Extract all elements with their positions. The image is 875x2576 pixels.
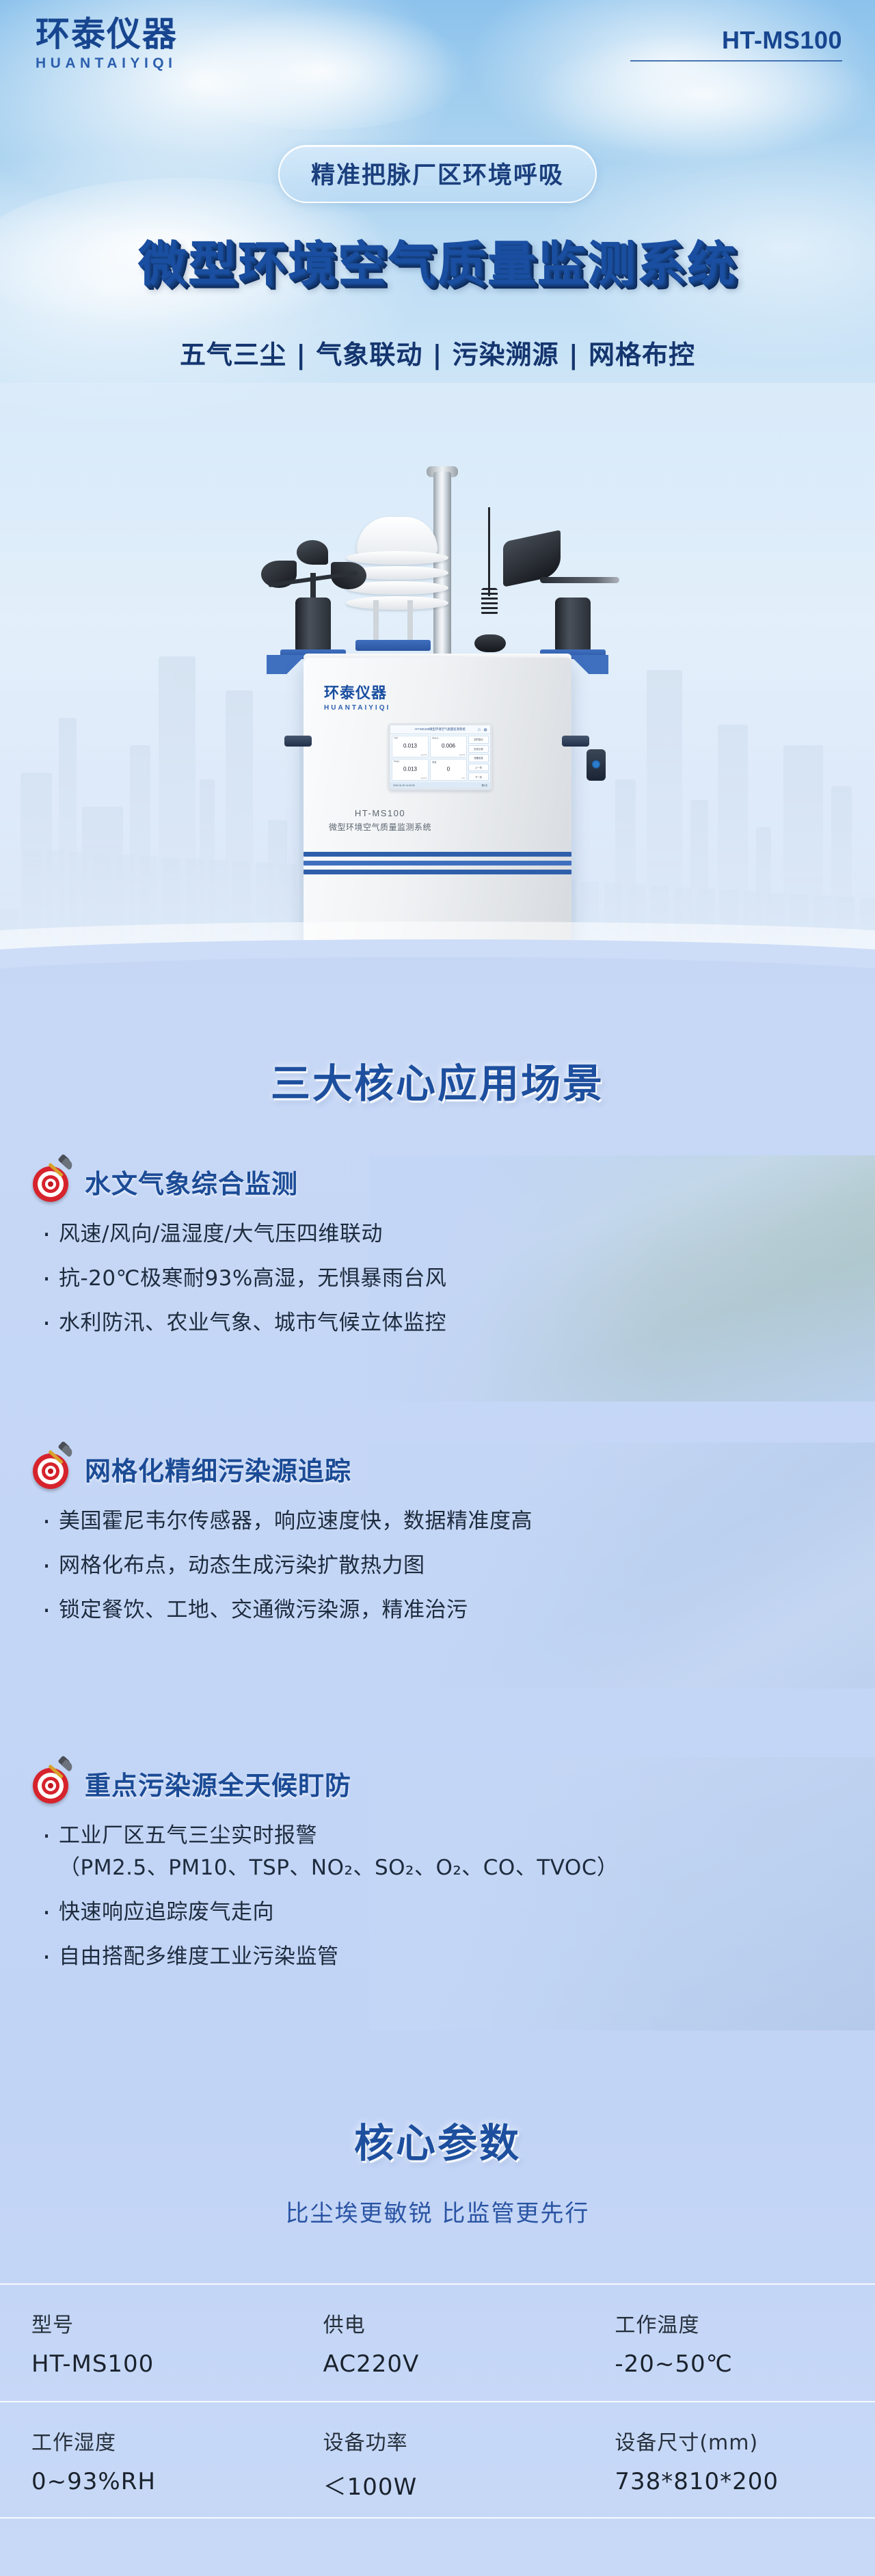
reading-value: 0.013 [392, 743, 428, 749]
reading-label: PM10 [394, 760, 399, 763]
list-item: 工业厂区五气三尘实时报警 （PM2.5、PM10、TSP、NO₂、SO₂、O₂、… [38, 1820, 618, 1884]
screen-title-bar: HT-MS100微型环境空气质量监测系统 ⌂ ✲ [390, 725, 490, 734]
cabinet-stripes [304, 852, 571, 875]
spec-value: HT-MS100 [31, 2350, 292, 2378]
reading-cell: TSP 0.013 ug/m3 [392, 736, 429, 757]
cabinet-label-desc: 微型环境空气质量监测系统 [246, 821, 514, 833]
list-item-text: 工业厂区五气三尘实时报警 [59, 1823, 317, 1848]
scene-2-title: 网格化精细污染源追踪 [85, 1450, 351, 1488]
dart-target-icon [31, 1448, 72, 1489]
anemometer-body [295, 598, 331, 654]
screen-page-indicator: 第1页 [481, 783, 487, 787]
gear-icon[interactable]: ✲ [483, 727, 487, 733]
product-device-image: 环泰仪器 HUANTAIYIQI HT-MS100微型环境空气质量监测系统 ⌂ … [246, 472, 629, 971]
spec-cell: 设备尺寸(mm) 738*810*200 [583, 2402, 875, 2517]
anemometer-cup [297, 540, 328, 565]
spec-key: 工作温度 [615, 2308, 875, 2338]
spec-value: 738*810*200 [615, 2468, 875, 2495]
vane-rod [540, 577, 619, 583]
spec-table: 型号 HT-MS100 供电 AC220V 工作温度 -20~50℃ 工作湿度 … [0, 2283, 875, 2519]
params-heading: 核心参数 [0, 2111, 875, 2169]
params-tagline: 比尘埃更敏锐 比监管更先行 [0, 2195, 875, 2228]
wind-direction-vane [498, 526, 628, 663]
cabinet-brand-cn: 环泰仪器 [324, 681, 390, 703]
spec-value: -20~50℃ [615, 2350, 875, 2378]
screen-timestamp: 2024-04-30 14:49:26 [393, 784, 414, 787]
camera-module [587, 749, 606, 781]
list-item: 水利防汛、农业气象、城市气候立体监控 [38, 1307, 446, 1339]
scene-3-header: 重点污染源全天候盯防 [31, 1762, 351, 1803]
list-item: 快速响应追踪废气走向 [38, 1896, 618, 1929]
spec-value: ＜100W [323, 2468, 584, 2501]
screen-button[interactable]: 实时显示 [468, 736, 489, 744]
reading-unit: ug/m3 [459, 753, 465, 756]
model-underline [630, 60, 842, 62]
cabinet-brand-en: HUANTAIYIQI [324, 704, 390, 712]
gas-species-line: （PM2.5、PM10、TSP、NO₂、SO₂、O₂、CO、TVOC） [59, 1855, 618, 1880]
hero-badge-text: 精准把脉厂区环境呼吸 [311, 162, 564, 189]
scene-2-bullets: 美国霍尼韦尔传感器，响应速度快，数据精准度高 网格化布点，动态生成污染扩散热力图… [38, 1505, 533, 1639]
reading-label: TSP [394, 737, 398, 740]
screen-button[interactable]: 设备信息 [468, 754, 489, 762]
reading-cell: PM10 0.013 ug/m3 [392, 759, 429, 781]
scene-block-1: 水文气象综合监测 风速/风向/温湿度/大气压四维联动 抗-20℃极寒耐93%高湿… [0, 1155, 875, 1401]
wind-speed-anemometer [265, 537, 368, 660]
screen-button[interactable]: 上一页 [468, 764, 489, 772]
scenes-heading: 三大核心应用场景 [0, 1051, 875, 1109]
spec-cell: 设备功率 ＜100W [292, 2402, 584, 2517]
spec-cell: 型号 HT-MS100 [0, 2285, 292, 2401]
scene-3-title: 重点污染源全天候盯防 [85, 1765, 351, 1802]
spec-value: 0~93%RH [31, 2468, 292, 2495]
list-item: 自由搭配多维度工业污染监管 [38, 1941, 618, 1973]
scene-1-bullets: 风速/风向/温湿度/大气压四维联动 抗-20℃极寒耐93%高湿，无惧暴雨台风 水… [38, 1218, 446, 1352]
screen-status-bar: 2024-04-30 14:49:26 第1页 [390, 782, 490, 788]
reading-cell: 风速 0 m/s [430, 759, 467, 781]
screen-body: TSP 0.013 ug/m3 PM2.5 0.006 ug/m3 PM10 [390, 734, 490, 782]
reading-value: 0 [431, 766, 466, 773]
poster-page: 环泰仪器 HUANTAIYIQI HT-MS100 精准把脉厂区环境呼吸 微型环… [0, 0, 875, 2576]
antenna-coil [481, 588, 498, 615]
spec-cell: 工作湿度 0~93%RH [0, 2402, 292, 2517]
list-item: 网格化布点，动态生成污染扩散热力图 [38, 1550, 533, 1582]
brand-name-cn: 环泰仪器 [36, 16, 178, 53]
list-item: 风速/风向/温湿度/大气压四维联动 [38, 1218, 446, 1250]
list-item: 抗-20℃极寒耐93%高湿，无惧暴雨台风 [38, 1263, 446, 1295]
reading-cell: PM2.5 0.006 ug/m3 [430, 736, 467, 757]
spec-key: 工作湿度 [31, 2426, 292, 2456]
reading-label: PM2.5 [432, 737, 438, 740]
model-badge: HT-MS100 [630, 26, 842, 62]
hero-badge: 精准把脉厂区环境呼吸 [278, 145, 597, 203]
device-touchscreen[interactable]: HT-MS100微型环境空气质量监测系统 ⌂ ✲ TSP 0.013 ug/m3 [388, 723, 492, 790]
page-title: 微型环境空气质量监测系统 [0, 226, 875, 295]
hero-subtitle: 五气三尘 | 气象联动 | 污染溯源 | 网格布控 [0, 334, 875, 371]
brand-name-en: HUANTAIYIQI [36, 55, 178, 72]
scene-block-3: 重点污染源全天候盯防 工业厂区五气三尘实时报警 （PM2.5、PM10、TSP、… [0, 1757, 875, 2030]
shield-stem [373, 600, 379, 643]
spec-key: 型号 [31, 2308, 292, 2338]
vane-body [555, 598, 591, 654]
table-row: 型号 HT-MS100 供电 AC220V 工作温度 -20~50℃ [0, 2283, 875, 2401]
reading-value: 0.013 [392, 766, 428, 773]
dart-target-icon [31, 1161, 72, 1202]
screen-button[interactable]: 历史记录 [468, 745, 489, 753]
shield-dome [357, 517, 437, 555]
reading-label: 风速 [432, 760, 436, 764]
screen-button[interactable]: 下一页 [468, 773, 489, 781]
scene-1-title: 水文气象综合监测 [85, 1163, 298, 1200]
scene-2-header: 网格化精细污染源追踪 [31, 1448, 351, 1489]
screen-content: HT-MS100微型环境空气质量监测系统 ⌂ ✲ TSP 0.013 ug/m3 [390, 725, 490, 788]
model-number: HT-MS100 [630, 26, 842, 55]
scene-3-bullets: 工业厂区五气三尘实时报警 （PM2.5、PM10、TSP、NO₂、SO₂、O₂、… [38, 1820, 618, 1985]
list-item: 锁定餐饮、工地、交通微污染源，精准治污 [38, 1594, 533, 1626]
cabinet-label-model: HT-MS100 [246, 808, 514, 818]
reading-grid: TSP 0.013 ug/m3 PM2.5 0.006 ug/m3 PM10 [392, 736, 467, 781]
screen-button-column: 实时显示 历史记录 设备信息 上一页 下一页 [468, 736, 489, 781]
reading-unit: ug/m3 [421, 777, 427, 779]
scene-1-header: 水文气象综合监测 [31, 1161, 298, 1202]
scene-block-2: 网格化精细污染源追踪 美国霍尼韦尔传感器，响应速度快，数据精准度高 网格化布点，… [0, 1443, 875, 1689]
spec-key: 设备功率 [323, 2426, 584, 2456]
hero-section: 环泰仪器 HUANTAIYIQI HT-MS100 精准把脉厂区环境呼吸 微型环… [0, 0, 875, 998]
antenna-whip [488, 507, 490, 596]
spec-cell: 工作温度 -20~50℃ [583, 2285, 875, 2401]
spec-key: 设备尺寸(mm) [615, 2426, 875, 2456]
cable-connector-right [562, 736, 589, 747]
reading-value: 0.006 [431, 743, 466, 749]
home-icon[interactable]: ⌂ [478, 727, 481, 732]
list-item: 美国霍尼韦尔传感器，响应速度快，数据精准度高 [38, 1505, 533, 1538]
reading-unit: m/s [461, 777, 465, 779]
screen-title: HT-MS100微型环境空气质量监测系统 [415, 727, 466, 732]
brand-logo: 环泰仪器 HUANTAIYIQI [36, 16, 178, 72]
spec-key: 供电 [323, 2308, 584, 2338]
spec-value: AC220V [323, 2350, 584, 2378]
cable-connector-left [284, 736, 312, 747]
table-row: 工作湿度 0~93%RH 设备功率 ＜100W 设备尺寸(mm) 738*810… [0, 2401, 875, 2519]
cabinet-product-label: HT-MS100 微型环境空气质量监测系统 [246, 808, 514, 833]
cabinet-brand-logo: 环泰仪器 HUANTAIYIQI [324, 681, 390, 712]
page-header: 环泰仪器 HUANTAIYIQI HT-MS100 [0, 0, 875, 103]
dart-target-icon [31, 1762, 72, 1803]
shield-stem [407, 600, 413, 643]
reading-unit: ug/m3 [421, 753, 427, 756]
spec-cell: 供电 AC220V [292, 2285, 584, 2401]
